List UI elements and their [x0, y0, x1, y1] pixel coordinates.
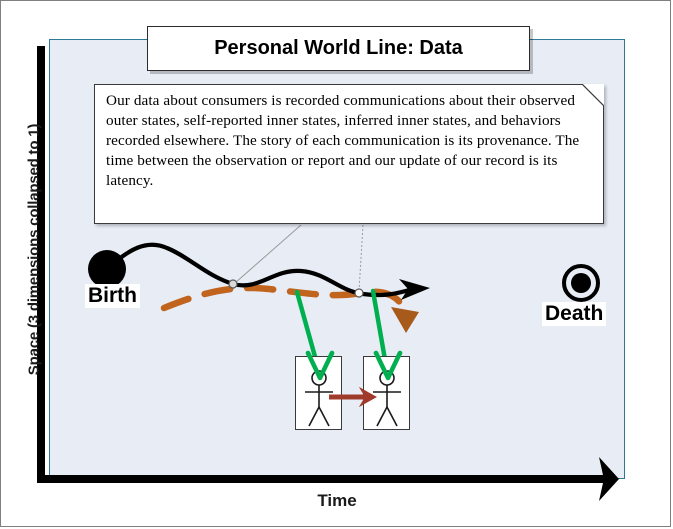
page-title: Personal World Line: Data [214, 37, 463, 60]
note-text: Our data about consumers is recorded com… [106, 91, 591, 191]
diagram-frame: Space (3 dimensions collapsed to 1) Time [0, 0, 671, 527]
title-box: Personal World Line: Data [147, 26, 530, 71]
person-box-2 [363, 356, 410, 430]
person-box-1 [295, 356, 342, 430]
birth-label: Birth [85, 284, 140, 308]
y-axis-title: Space (3 dimensions collapsed to 1) [26, 105, 43, 395]
x-axis-arrow-icon [573, 457, 619, 501]
death-label: Death [542, 302, 606, 326]
x-axis-line [37, 475, 607, 483]
note-box: Our data about consumers is recorded com… [94, 84, 604, 224]
birth-marker-icon [88, 250, 126, 288]
note-fold-corner-icon [582, 84, 604, 106]
death-marker-core-icon [571, 273, 591, 293]
x-axis-title: Time [247, 491, 427, 511]
